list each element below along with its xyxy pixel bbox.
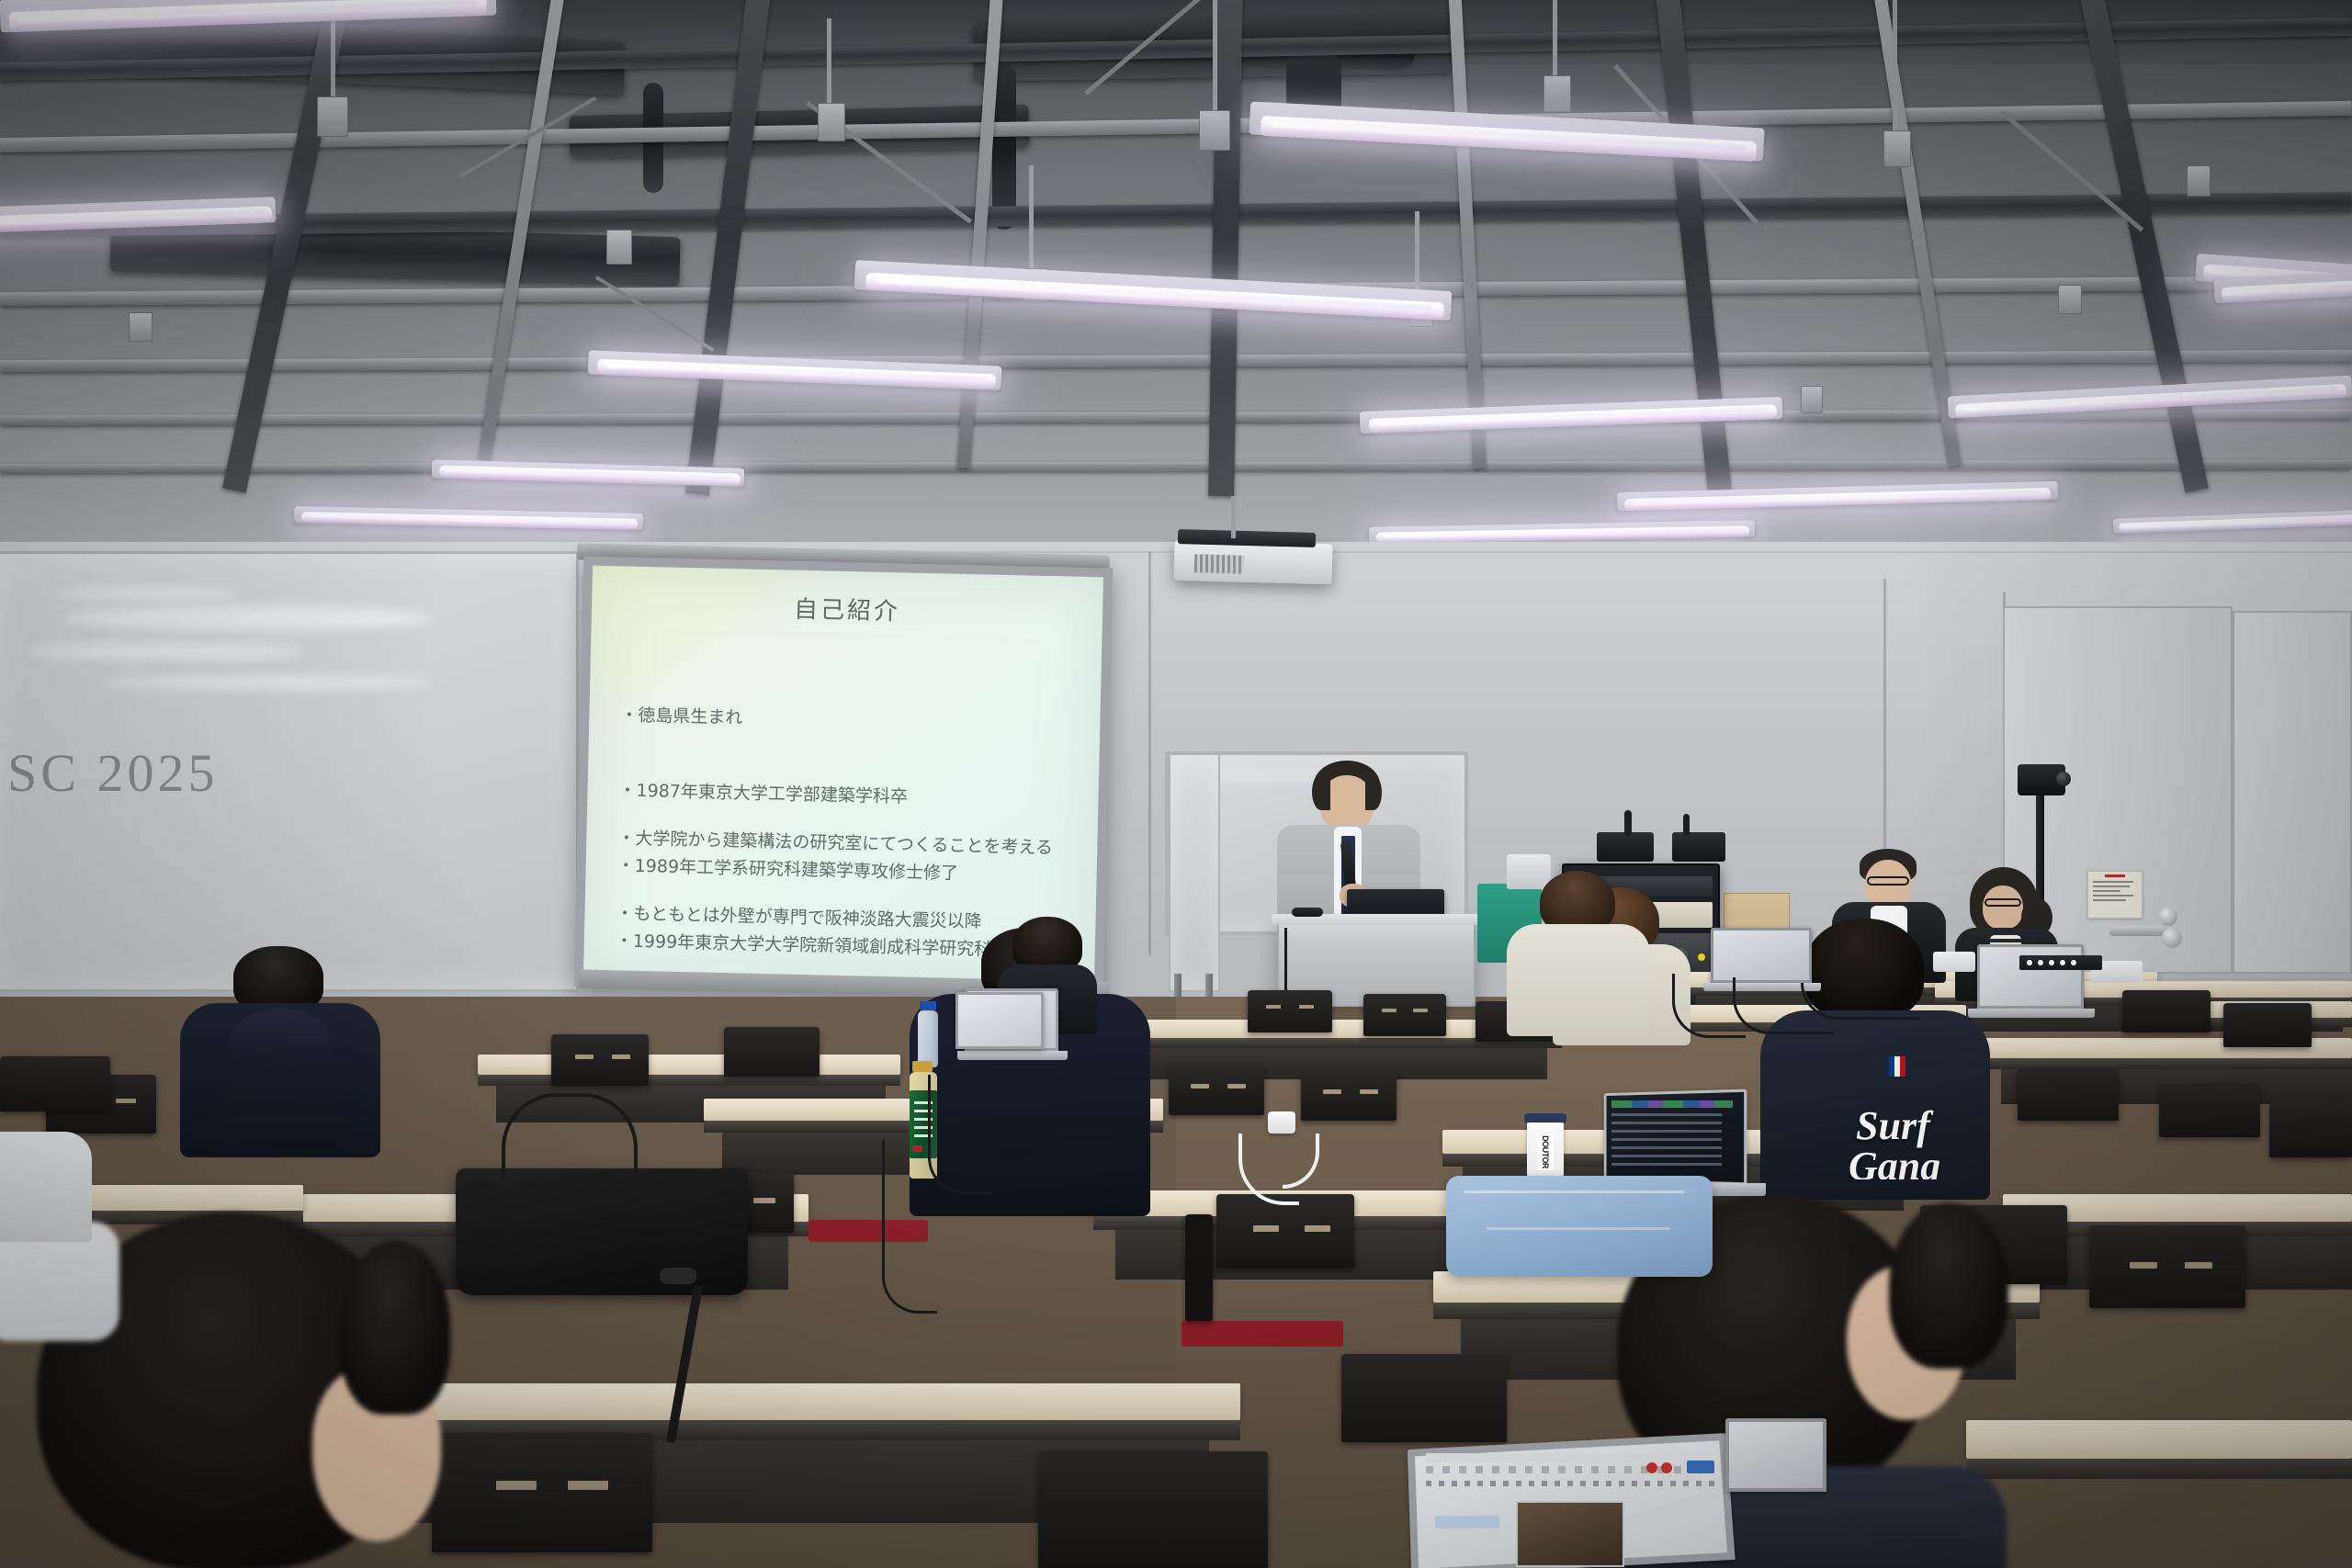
door-knob[interactable] xyxy=(2159,908,2177,926)
white-box xyxy=(1933,952,1975,972)
coffee-cup-brand: DOUTOR xyxy=(1541,1135,1550,1168)
bag-strap xyxy=(502,1093,638,1181)
av-cable xyxy=(1801,983,1920,1020)
ceiling-hanger xyxy=(1029,165,1034,276)
glasses-icon xyxy=(1984,898,2021,907)
door-handle[interactable] xyxy=(2109,926,2165,936)
french-flag-patch xyxy=(1889,1056,1905,1077)
glasses-icon xyxy=(1867,876,1909,886)
right-door-secondary[interactable] xyxy=(2233,611,2352,974)
mobile-partition-board xyxy=(1169,753,1220,992)
door-notice-sign xyxy=(2087,871,2143,919)
slide-bullet: ・徳島県生まれ xyxy=(620,703,1080,739)
power-adapter xyxy=(1268,1111,1295,1134)
slide-title: 自己紹介 xyxy=(592,586,1103,632)
ceiling-hanger xyxy=(827,18,831,110)
door-lock-knob[interactable] xyxy=(2162,928,2182,948)
ceiling-hanger xyxy=(1213,0,1217,119)
ceiling-hanger xyxy=(1553,0,1557,83)
black-shoulder-bag xyxy=(456,1168,748,1295)
exposed-ceiling xyxy=(0,0,2352,588)
whiteboard-handwriting: SC 2025 xyxy=(7,742,218,804)
hoodie-hood xyxy=(230,1009,331,1073)
tshirt-text-line2: Gang xyxy=(1849,1143,1940,1179)
lecture-hall-scene: SC 2025 自己紹介 ・徳島県生まれ ・1987年東京大学工学部建築学科卒 … xyxy=(0,0,2352,1568)
ceiling-hanger xyxy=(1893,0,1897,138)
slide-bullet: ・大学院から建築構法の研究室にてつくることを考える xyxy=(617,826,1086,862)
floor-cable xyxy=(928,1075,992,1194)
